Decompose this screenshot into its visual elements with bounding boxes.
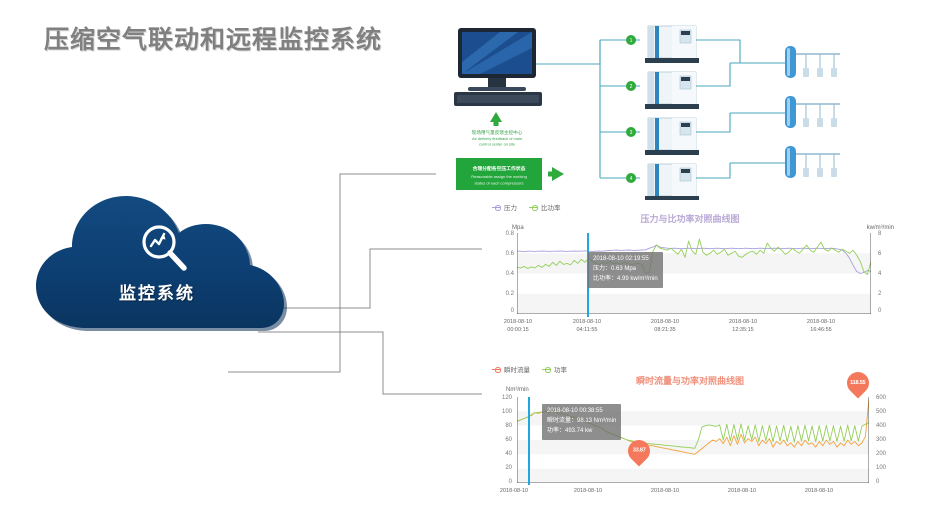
page-title: 压缩空气联动和远程监控系统 [44,20,382,56]
chart2-ytick: 0 [490,479,512,485]
desktop-computer-icon [454,28,542,106]
chart2-xtick: 2018-08-10 [639,487,691,495]
chart2-xtick: 2018-08-10 [562,487,614,495]
chart2-ytick: 120 [490,395,512,401]
chart2-y2tick: 600 [876,395,894,401]
chart1-xtick-date: 2018-08-10 [639,318,691,326]
topology-caption-en-2: control center on site [479,142,515,147]
legend-item-power[interactable]: 功率 [542,364,567,374]
up-arrow-icon [490,112,502,126]
compressor-unit [645,26,699,63]
chart1-ytick: 0.4 [492,271,514,277]
legend-label-flow: 瞬时流量 [504,364,530,374]
legend-item-flow[interactable]: 瞬时流量 [492,364,530,374]
chart1-tooltip-specific-power: 比功率：4.99 kw/m³/min [593,275,658,285]
chart2-max-marker-label: 118.55 [850,380,865,386]
legend-marker-specific-power [529,207,538,208]
monitoring-system-cloud[interactable]: 监控系统 [28,183,298,331]
chart1-y2tick: 4 [878,271,894,277]
chart2-min-marker-label: 33.87 [633,448,646,454]
chart1-tooltip-pressure: 压力：0.63 Mpa [593,265,658,275]
legend-marker-pressure [492,207,501,208]
chart2-xtick: 2018-08-10 [716,487,768,495]
svg-text:2: 2 [630,84,633,90]
chart2-xtick-date: 2018-08-10 [716,487,768,495]
air-tank [785,146,840,178]
chart1-xtick-date: 2018-08-10 [717,318,769,326]
chart2-tooltip-power: 功率：493.74 kw [547,427,616,437]
chart2-xtick-date: 2018-08-10 [793,487,845,495]
svg-text:3: 3 [630,130,633,136]
topology-caption-en-1: Air delivery feedback of main [472,136,522,141]
chart2-ytick: 20 [490,465,512,471]
chart1-xtick: 2018-08-10 12:35:15 [717,318,769,335]
chart1-tooltip-time: 2018-08-10 02:19:55 [593,255,658,265]
chart1-xtick: 2018-08-10 04:11:55 [561,318,613,335]
svg-text:Reasonable assign the working: Reasonable assign the working [471,174,527,179]
chart2-tooltip: 2018-08-10 00:38:55 瞬时流量：98.13 Nm³/min 功… [542,404,621,440]
chart1-xtick: 2018-08-10 08:21:35 [639,318,691,335]
air-tank [785,46,840,78]
magnifier-chart-icon [136,221,192,277]
chart2-y2tick: 400 [876,423,894,429]
svg-text:合理分配各空压工作状态: 合理分配各空压工作状态 [473,165,526,172]
node-indicator-4: 4 [626,173,636,183]
chart2-y2tick: 500 [876,409,894,415]
chart1-ytick: 0.2 [492,291,514,297]
legend-marker-power [542,369,551,370]
chart2-xtick: 2018-08-10 [488,487,540,495]
chart1-y2tick: 6 [878,251,894,257]
chart1-y2tick: 0 [878,308,894,314]
chart1-xtick-date: 2018-08-10 [795,318,847,326]
chart2-left-unit: Nm³/min [506,387,529,393]
chart1-title: 压力与比功率对照曲线图 [484,212,896,225]
chart2-ytick: 40 [490,451,512,457]
chart1-xtick: 2018-08-10 16:46:55 [795,318,847,335]
chart1-xtick-date: 2018-08-10 [561,318,613,326]
chart1-plot-area[interactable] [517,233,871,314]
green-status-box: 合理分配各空压工作状态 Reasonable assign the workin… [456,158,542,190]
legend-marker-flow [492,369,501,370]
chart2-y2tick: 100 [876,465,894,471]
chart1-legend[interactable]: 压力 比功率 [492,202,561,212]
compressor-unit [645,164,699,200]
chart1-xtick-date: 2018-08-10 [492,318,544,326]
legend-item-specific-power[interactable]: 比功率 [529,202,561,212]
svg-text:4: 4 [630,176,633,182]
chart2-xtick: 2018-08-10 [793,487,845,495]
chart1-xtick-time: 08:21:35 [639,326,691,334]
right-arrow-icon [548,167,564,181]
node-indicator-1: 1 [626,35,636,45]
chart2-y2tick: 300 [876,437,894,443]
slide-canvas: 压缩空气联动和远程监控系统 监控系统 [0,0,945,529]
chart1-y2tick: 8 [878,231,894,237]
chart1-xtick-time: 12:35:15 [717,326,769,334]
chart1-xtick-time: 00:00:15 [492,326,544,334]
compressor-unit [645,118,699,155]
compressor-unit [645,72,699,109]
chart2-ytick: 80 [490,423,512,429]
chart1-ytick: 0 [492,308,514,314]
chart1-ytick: 0.8 [492,231,514,237]
topology-caption-cn: 现场用气量反馈主控中心 [472,129,523,136]
chart1-tooltip: 2018-08-10 02:19:55 压力：0.63 Mpa 比功率：4.99… [588,252,663,288]
legend-label-power: 功率 [554,364,567,374]
chart2-y2tick: 0 [876,479,894,485]
chart1-y2tick: 2 [878,291,894,297]
chart2-y2tick: 200 [876,451,894,457]
system-topology-diagram: 现场用气量反馈主控中心 Air delivery feedback of mai… [440,18,940,200]
chart2-tooltip-flow: 瞬时流量：98.13 Nm³/min [547,417,616,427]
chart2-cursor-line [528,397,530,485]
chart2-ytick: 60 [490,437,512,443]
air-tank [785,96,840,128]
node-indicator-3: 3 [626,127,636,137]
chart2-tooltip-time: 2018-08-10 00:38:55 [547,407,616,417]
chart1-ytick: 0.6 [492,251,514,257]
flow-power-chart[interactable]: 瞬时流量 功率 瞬时流量与功率对照曲线图 Nm³/min 120 100 80 … [484,362,896,514]
chart2-max-marker[interactable]: 118.55 [842,367,873,398]
chart1-xtick: 2018-08-10 00:00:15 [492,318,544,335]
chart2-title: 瞬时流量与功率对照曲线图 [484,374,896,387]
chart2-legend[interactable]: 瞬时流量 功率 [492,364,567,374]
chart2-xtick-date: 2018-08-10 [488,487,540,495]
legend-label-pressure: 压力 [504,202,517,212]
legend-label-specific-power: 比功率 [541,202,561,212]
chart1-xtick-time: 04:11:55 [561,326,613,334]
svg-text:states of each compressors: states of each compressors [475,181,524,186]
chart2-ytick: 100 [490,409,512,415]
legend-item-pressure[interactable]: 压力 [492,202,517,212]
chart2-xtick-date: 2018-08-10 [562,487,614,495]
node-indicator-2: 2 [626,81,636,91]
cloud-label: 监控系统 [28,279,286,304]
svg-text:1: 1 [630,38,633,44]
chart2-xtick-date: 2018-08-10 [639,487,691,495]
pressure-specific-power-chart[interactable]: 压力 比功率 压力与比功率对照曲线图 Mpa kw/m³/min 0.8 0.6… [484,200,896,335]
chart1-xtick-time: 16:46:55 [795,326,847,334]
